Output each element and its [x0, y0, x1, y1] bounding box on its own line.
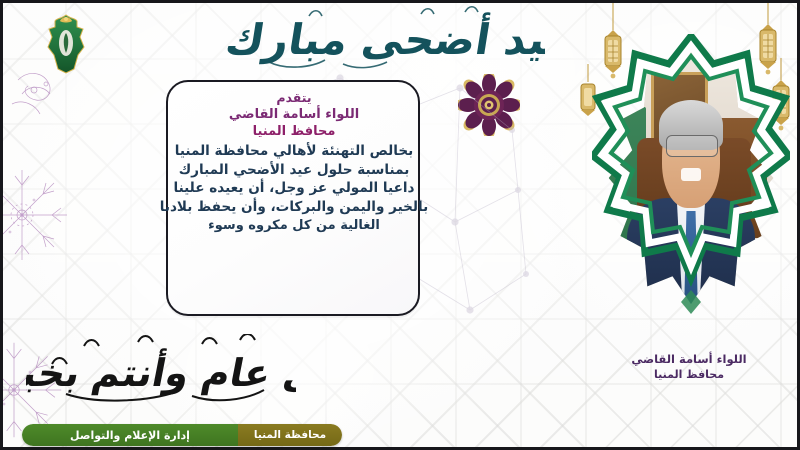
footer-bar: محافظة المنيا إدارة الإعلام والتواصل	[22, 424, 342, 446]
every-year-you-are-well-calligraphy: كل عام وأنتم بخير	[26, 334, 296, 406]
eid-greeting-calligraphy: عيد أضحى مبارك	[225, 0, 545, 76]
eid-greeting-card: عيد أضحى مبارك	[0, 0, 800, 450]
caption-name: اللواء أسامة القاضي	[586, 352, 792, 368]
minya-governorate-emblem-icon	[44, 13, 88, 75]
greeting-text-card	[166, 80, 420, 316]
footer-governorate-label: محافظة المنيا	[238, 424, 342, 446]
footer-media-department-label: إدارة الإعلام والتواصل	[22, 424, 249, 446]
portrait-caption: اللواء أسامة القاضي محافظ المنيا	[586, 352, 792, 382]
svg-text:كل عام وأنتم بخير: كل عام وأنتم بخير	[26, 348, 296, 396]
eight-point-star-frame-icon	[592, 34, 790, 324]
governor-portrait	[592, 34, 790, 324]
svg-text:عيد أضحى مبارك: عيد أضحى مبارك	[225, 12, 545, 64]
caption-title: محافظ المنيا	[586, 368, 792, 383]
